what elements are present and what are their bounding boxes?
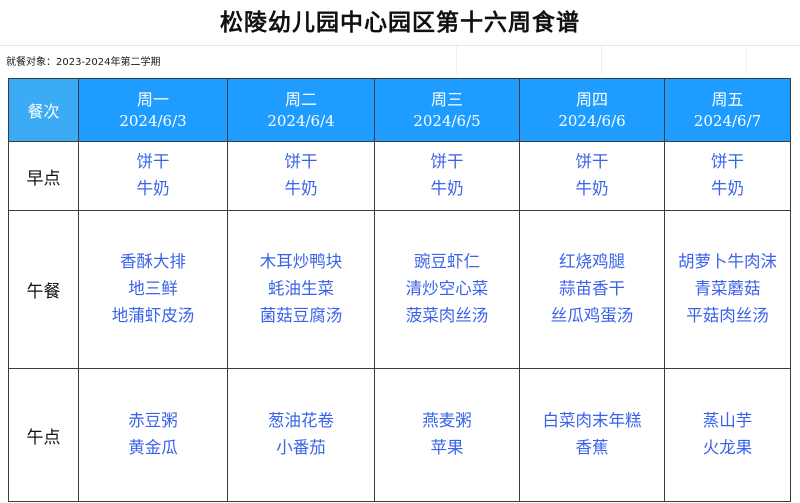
day-date: 2024/6/3: [79, 111, 227, 133]
header-day-thursday: 周四 2024/6/6: [520, 79, 665, 142]
dish-item: 火龙果: [665, 435, 790, 462]
table-header-row: 餐次 周一 2024/6/3 周二 2024/6/4 周三 2024/6/5 周…: [9, 79, 791, 142]
dish-item: 地蒲虾皮汤: [79, 303, 227, 330]
dish-item: 丝瓜鸡蛋汤: [520, 303, 664, 330]
dish-item: 苹果: [375, 435, 519, 462]
cell-morning-snack-wednesday: 饼干 牛奶: [375, 142, 520, 211]
table-row-lunch: 午餐 香酥大排 地三鲜 地蒲虾皮汤 木耳炒鸭块 蚝油生菜 菌菇豆腐汤 豌豆虾仁 …: [9, 211, 791, 369]
table-row-afternoon-snack: 午点 赤豆粥 黄金瓜 葱油花卷 小番茄 燕麦粥 苹果 白菜肉末年糕 香蕉: [9, 369, 791, 502]
day-name: 周五: [665, 88, 790, 111]
dish-item: 葱油花卷: [228, 408, 374, 435]
dish-item: 黄金瓜: [79, 435, 227, 462]
dish-item: 地三鲜: [79, 276, 227, 303]
dish-item: 牛奶: [665, 176, 790, 203]
day-date: 2024/6/4: [228, 111, 374, 133]
weekly-menu-table: 餐次 周一 2024/6/3 周二 2024/6/4 周三 2024/6/5 周…: [8, 78, 791, 502]
day-name: 周三: [375, 88, 519, 111]
day-date: 2024/6/6: [520, 111, 664, 133]
dish-item: 饼干: [79, 149, 227, 176]
day-name: 周二: [228, 88, 374, 111]
cell-lunch-friday: 胡萝卜牛肉沫 青菜蘑菇 平菇肉丝汤: [665, 211, 791, 369]
header-day-tuesday: 周二 2024/6/4: [228, 79, 375, 142]
dish-item: 饼干: [228, 149, 374, 176]
dish-item: 牛奶: [79, 176, 227, 203]
cell-morning-snack-friday: 饼干 牛奶: [665, 142, 791, 211]
subtitle-cell-filler: [602, 46, 747, 74]
cell-afternoon-snack-friday: 蒸山芋 火龙果: [665, 369, 791, 502]
dish-item: 菠菜肉丝汤: [375, 303, 519, 330]
dish-item: 木耳炒鸭块: [228, 249, 374, 276]
dish-item: 牛奶: [375, 176, 519, 203]
table-row-morning-snack: 早点 饼干 牛奶 饼干 牛奶 饼干 牛奶 饼干 牛奶 饼干: [9, 142, 791, 211]
dish-item: 红烧鸡腿: [520, 249, 664, 276]
dish-item: 蒸山芋: [665, 408, 790, 435]
cell-lunch-monday: 香酥大排 地三鲜 地蒲虾皮汤: [79, 211, 228, 369]
header-day-friday: 周五 2024/6/7: [665, 79, 791, 142]
day-name: 周一: [79, 88, 227, 111]
meal-label-lunch: 午餐: [9, 211, 79, 369]
subtitle-cell-filler: [747, 46, 800, 74]
dish-item: 赤豆粥: [79, 408, 227, 435]
dish-item: 饼干: [665, 149, 790, 176]
audience-text: 就餐对象：2023-2024年第二学期: [6, 53, 161, 68]
header-day-wednesday: 周三 2024/6/5: [375, 79, 520, 142]
dish-item: 饼干: [520, 149, 664, 176]
cell-afternoon-snack-wednesday: 燕麦粥 苹果: [375, 369, 520, 502]
dish-item: 燕麦粥: [375, 408, 519, 435]
dish-item: 牛奶: [228, 176, 374, 203]
page-title: 松陵幼儿园中心园区第十六周食谱: [220, 11, 580, 34]
dish-item: 菌菇豆腐汤: [228, 303, 374, 330]
dish-item: 牛奶: [520, 176, 664, 203]
menu-sheet: 松陵幼儿园中心园区第十六周食谱 就餐对象：2023-2024年第二学期 餐次 周…: [0, 0, 800, 503]
dish-item: 青菜蘑菇: [665, 276, 790, 303]
header-day-monday: 周一 2024/6/3: [79, 79, 228, 142]
cell-afternoon-snack-tuesday: 葱油花卷 小番茄: [228, 369, 375, 502]
dish-item: 蒜苗香干: [520, 276, 664, 303]
subtitle-cell: 就餐对象：2023-2024年第二学期: [0, 46, 457, 74]
meal-label-morning-snack: 早点: [9, 142, 79, 211]
header-meal-column: 餐次: [9, 79, 79, 142]
dish-item: 香蕉: [520, 435, 664, 462]
meal-label-afternoon-snack: 午点: [9, 369, 79, 502]
dish-item: 饼干: [375, 149, 519, 176]
dish-item: 香酥大排: [79, 249, 227, 276]
subtitle-band: 就餐对象：2023-2024年第二学期: [0, 46, 800, 74]
cell-lunch-wednesday: 豌豆虾仁 清炒空心菜 菠菜肉丝汤: [375, 211, 520, 369]
dish-item: 豌豆虾仁: [375, 249, 519, 276]
dish-item: 蚝油生菜: [228, 276, 374, 303]
subtitle-cell-filler: [457, 46, 602, 74]
dish-item: 清炒空心菜: [375, 276, 519, 303]
day-date: 2024/6/5: [375, 111, 519, 133]
cell-morning-snack-tuesday: 饼干 牛奶: [228, 142, 375, 211]
day-date: 2024/6/7: [665, 111, 790, 133]
dish-item: 胡萝卜牛肉沫: [665, 249, 790, 276]
cell-afternoon-snack-thursday: 白菜肉末年糕 香蕉: [520, 369, 665, 502]
cell-morning-snack-monday: 饼干 牛奶: [79, 142, 228, 211]
dish-item: 小番茄: [228, 435, 374, 462]
title-band: 松陵幼儿园中心园区第十六周食谱: [0, 0, 800, 46]
dish-item: 白菜肉末年糕: [520, 408, 664, 435]
cell-afternoon-snack-monday: 赤豆粥 黄金瓜: [79, 369, 228, 502]
cell-morning-snack-thursday: 饼干 牛奶: [520, 142, 665, 211]
dish-item: 平菇肉丝汤: [665, 303, 790, 330]
cell-lunch-thursday: 红烧鸡腿 蒜苗香干 丝瓜鸡蛋汤: [520, 211, 665, 369]
day-name: 周四: [520, 88, 664, 111]
cell-lunch-tuesday: 木耳炒鸭块 蚝油生菜 菌菇豆腐汤: [228, 211, 375, 369]
